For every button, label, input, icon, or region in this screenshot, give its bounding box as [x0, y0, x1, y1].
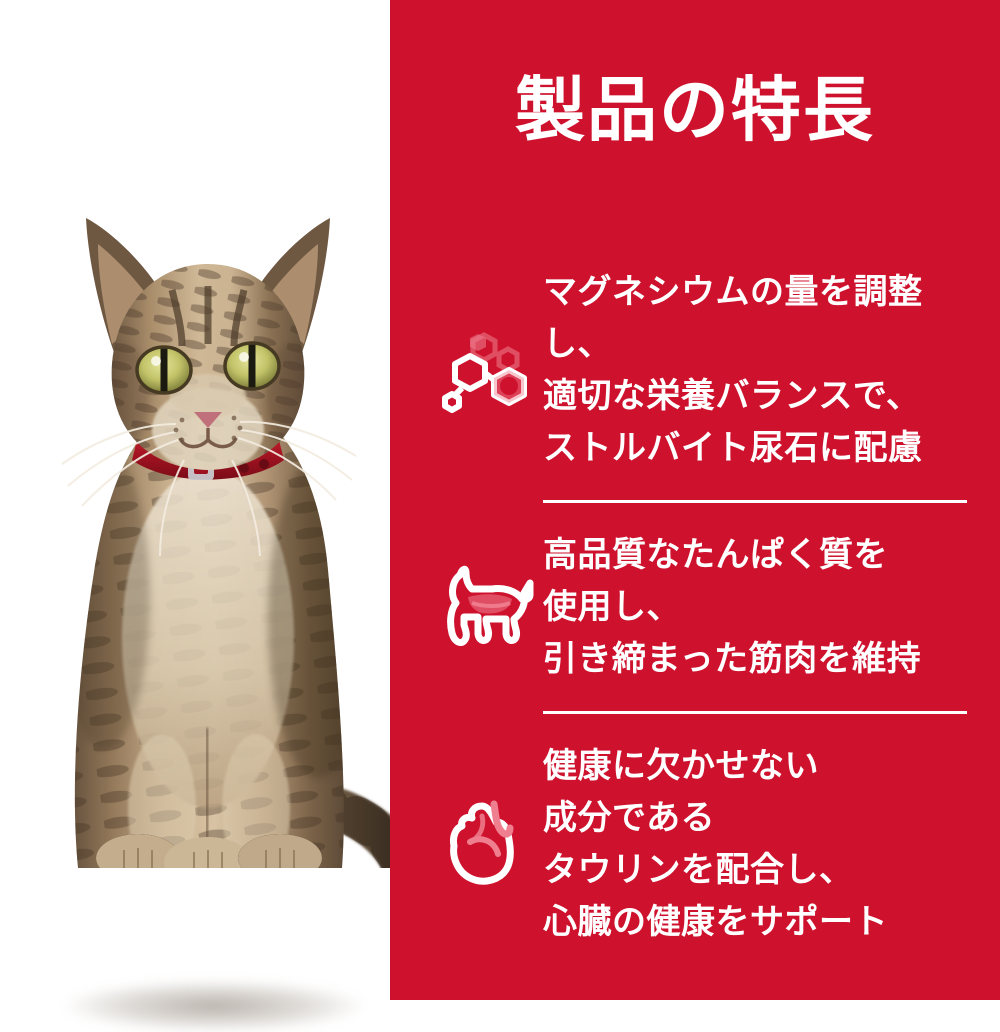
product-features-page: 製品の特長	[0, 0, 1000, 1000]
features-list: マグネシウムの量を調整し、 適切な栄養バランスで、 ストルバイト尿石に配慮 高品…	[390, 262, 1000, 952]
feature-item-taurine: 健康に欠かせない 成分である タウリンを配合し、 心臓の健康をサポート	[390, 714, 1000, 952]
cat-illustration	[12, 168, 422, 868]
cat-paws	[96, 834, 322, 868]
feature-text-taurine: 健康に欠かせない 成分である タウリンを配合し、 心臓の健康をサポート	[543, 740, 904, 948]
cat-photo	[12, 168, 422, 868]
page-title: 製品の特長	[390, 72, 1000, 149]
features-red-panel: 製品の特長	[390, 0, 1000, 1000]
cat-silhouette-icon	[435, 552, 545, 662]
feature-item-magnesium: マグネシウムの量を調整し、 適切な栄養バランスで、 ストルバイト尿石に配慮	[390, 262, 1000, 500]
feature-item-protein: 高品質なたんぱく質を 使用し、 引き締まった筋肉を維持	[390, 503, 1000, 711]
heart-anatomical-icon	[435, 789, 545, 899]
cat-ground-shadow	[64, 980, 364, 1032]
molecule-hexagons-icon	[435, 315, 545, 425]
feature-text-magnesium: マグネシウムの量を調整し、 適切な栄養バランスで、 ストルバイト尿石に配慮	[543, 266, 1000, 474]
feature-text-protein: 高品質なたんぱく質を 使用し、 引き締まった筋肉を維持	[543, 529, 937, 685]
cat-photo-panel	[0, 0, 390, 1000]
